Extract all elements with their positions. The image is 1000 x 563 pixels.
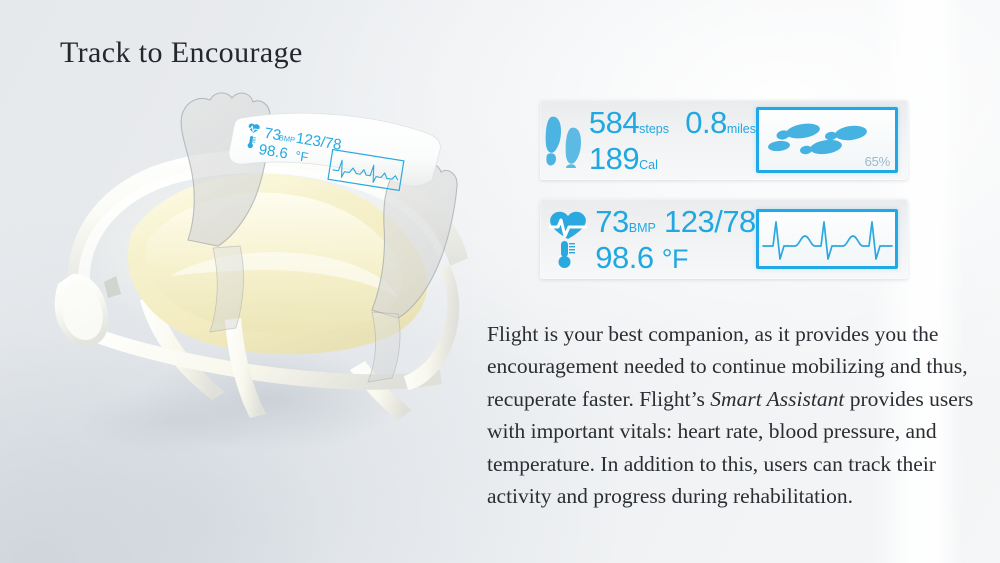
activity-readout: 584steps 0.8miles 189Cal [587,107,756,174]
vitals-icon-column [544,208,593,270]
distance-unit: miles [727,122,756,136]
ecg-waveform-graphic [756,209,898,269]
progress-percent-label: 65% [865,154,890,169]
flight-walker-illustration: 73 BMP 123/78 98.6 °F [20,70,490,470]
activity-hud-panel: 584steps 0.8miles 189Cal [540,100,908,180]
distance-value: 0.8 [685,105,727,140]
calories-value: 189 [589,141,639,176]
calories-unit: Cal [639,158,658,172]
heart-rate-value: 73 [595,204,628,239]
slide-canvas: Track to Encourage [0,0,1000,563]
vitals-readout: 73BMP 123/78 98.6 °F [593,206,756,273]
vitals-hud-panel: 73BMP 123/78 98.6 °F [540,199,908,279]
body-paragraph: Flight is your best companion, as it pro… [487,318,987,512]
vitals-row-temperature: 98.6 °F [595,242,756,273]
page-title: Track to Encourage [60,36,303,70]
activity-viz-wrap: 65% [756,107,898,173]
vitals-viz-wrap [756,209,898,269]
temperature-unit: °F [662,244,688,274]
paragraph-italic-term: Smart Assistant [710,387,844,411]
footprints-icon [544,111,587,169]
device-temperature-unit: °F [294,148,309,165]
steps-unit: steps [639,122,669,136]
steps-value: 584 [589,105,639,140]
heart-rate-unit: BMP [629,221,656,235]
blood-pressure-value: 123/78 [664,204,756,239]
activity-row-steps-distance: 584steps 0.8miles [589,107,756,138]
temperature-value: 98.6 [595,240,653,275]
heart-pulse-icon [550,212,586,239]
thermometer-icon [558,241,575,268]
vitals-row-hr-bp: 73BMP 123/78 [595,206,756,237]
activity-row-calories: 189Cal [589,143,756,174]
footprint-trail-graphic: 65% [756,107,898,173]
